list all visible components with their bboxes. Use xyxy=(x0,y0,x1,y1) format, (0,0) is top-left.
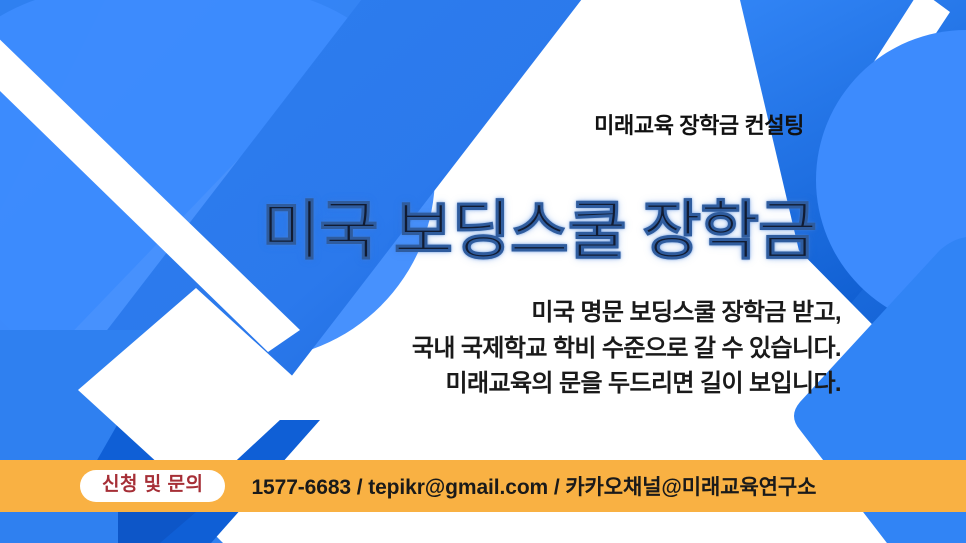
body-copy: 미국 명문 보딩스쿨 장학금 받고, 국내 국제학교 학비 수준으로 갈 수 있… xyxy=(412,295,841,402)
contact-details-text: 1577-6683 / tepikr@gmail.com / 카카오채널@미래교… xyxy=(251,471,816,501)
body-line-1: 미국 명문 보딩스쿨 장학금 받고, xyxy=(412,295,841,331)
body-line-2: 국내 국제학교 학비 수준으로 갈 수 있습니다. xyxy=(412,331,841,367)
contact-bar: 신청 및 문의 1577-6683 / tepikr@gmail.com / 카… xyxy=(0,460,966,512)
page-title: 미국 보딩스쿨 장학금 xyxy=(262,198,816,265)
inquiry-pill-badge: 신청 및 문의 xyxy=(80,470,225,503)
body-line-3: 미래교육의 문을 두드리면 길이 보입니다. xyxy=(412,366,841,402)
poster-canvas: 미래교육 장학금 컨설팅 미국 보딩스쿨 장학금 미국 명문 보딩스쿨 장학금 … xyxy=(0,0,966,543)
eyebrow-text: 미래교육 장학금 컨설팅 xyxy=(594,108,804,140)
